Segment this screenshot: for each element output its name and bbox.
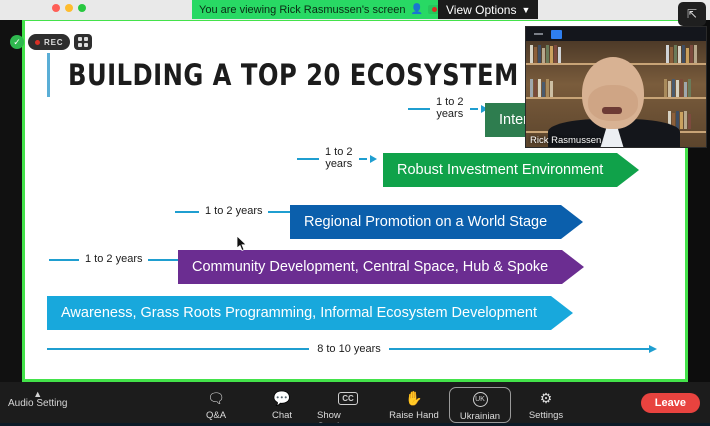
step-bar-arrow-tip: [562, 250, 584, 284]
view-options-label: View Options: [446, 3, 516, 17]
audio-setting-label: Audio Setting: [8, 398, 68, 409]
title-accent-rule: [47, 53, 50, 97]
record-dot-icon: [35, 40, 40, 45]
arrow-right-icon: [649, 345, 657, 353]
connector-label-2: 1 to 2 years: [175, 206, 302, 218]
zoom-meeting-window: You are viewing Rick Rasmussen's screen …: [0, 0, 710, 426]
grid-layout-icon[interactable]: [74, 34, 92, 50]
mouse-cursor-icon: [236, 235, 248, 252]
toolbar-button-ukrainian-label: Ukrainian: [460, 411, 500, 422]
step-bar-4: Robust Investment Environment: [383, 153, 639, 187]
toolbar-button-raise-hand[interactable]: ✋ Raise Hand: [383, 387, 445, 421]
toolbar-button-raise-hand-label: Raise Hand: [389, 410, 439, 421]
person-face-shading: [588, 85, 638, 121]
toolbar-button-qa[interactable]: 🗨 Q&A: [185, 387, 247, 421]
participant-name-label: Rick Rasmussen: [530, 135, 601, 146]
connector-line: [268, 211, 292, 213]
books-row: [530, 79, 553, 97]
screen-share-icon: 👤: [411, 4, 423, 15]
step-bar-3-label: Regional Promotion on a World Stage: [290, 205, 561, 239]
slide-title-group: BUILDING A TOP 20 ECOSYSTEM: [47, 53, 553, 97]
record-dot-icon: [432, 7, 437, 12]
chevron-up-icon: ▲: [8, 390, 68, 398]
connector-text: 1 to 2: [325, 147, 353, 159]
window-traffic-lights[interactable]: [52, 4, 86, 12]
video-feed: Rick Rasmussen: [526, 41, 706, 148]
toolbar-items: 🗨 Q&A 💬 Chat CC Show Captions ✋ Raise Ha…: [185, 387, 577, 426]
connector-text-second: years: [325, 159, 353, 171]
timeline-axis: 8 to 10 years: [47, 343, 657, 355]
raise-hand-icon: ✋: [405, 390, 422, 407]
meeting-toolbar: ▲ Audio Setting 🗨 Q&A 💬 Chat CC Show Cap…: [0, 382, 710, 426]
toolbar-button-chat[interactable]: 💬 Chat: [251, 387, 313, 421]
recording-floating-toolbar[interactable]: ✓ REC: [10, 34, 92, 50]
arrow-right-icon: [370, 155, 377, 163]
connector-text: 1 to 2 years: [85, 254, 142, 266]
close-window-button[interactable]: [52, 4, 60, 12]
screen-share-banner-text: You are viewing Rick Rasmussen's screen: [199, 4, 406, 16]
check-circle-icon: ✓: [10, 35, 24, 49]
maximize-window-button[interactable]: [78, 4, 86, 12]
minimize-window-button[interactable]: [65, 4, 73, 12]
leave-button[interactable]: Leave: [641, 393, 700, 413]
connector-label-3: 1 to 2 years: [297, 147, 377, 170]
interpretation-globe-icon: UK: [473, 391, 488, 408]
connector-label-1: 1 to 2 years: [49, 254, 188, 266]
books-row: [666, 45, 697, 63]
maximize-icon[interactable]: [551, 30, 562, 39]
connector-line: [148, 259, 178, 261]
expand-arrows-icon[interactable]: ⇱: [678, 2, 706, 26]
screen-share-banner: You are viewing Rick Rasmussen's screen …: [192, 0, 468, 19]
view-options-button[interactable]: View Options ▼: [438, 0, 538, 19]
rec-button-label: REC: [44, 38, 63, 47]
step-bar-3: Regional Promotion on a World Stage: [290, 205, 583, 239]
chevron-down-icon: ▼: [521, 5, 530, 15]
timeline-label: 8 to 10 years: [309, 343, 389, 355]
share-frame-left-gutter: [0, 18, 22, 382]
toolbar-button-settings-label: Settings: [529, 410, 563, 421]
qa-bubbles-icon: 🗨: [207, 390, 225, 407]
connector-text-wrap: 1 to 2 years: [436, 97, 464, 120]
closed-captions-icon: CC: [338, 390, 358, 407]
audio-setting-button[interactable]: ▲ Audio Setting: [8, 390, 68, 409]
connector-text-wrap: 1 to 2 years: [325, 147, 353, 170]
connector-line: [49, 259, 79, 261]
toolbar-button-qa-label: Q&A: [206, 410, 226, 421]
step-bar-2: Community Development, Central Space, Hu…: [178, 250, 584, 284]
minimize-icon[interactable]: [534, 33, 543, 35]
step-bar-2-label: Community Development, Central Space, Hu…: [178, 250, 562, 284]
toolbar-button-show-captions[interactable]: CC Show Captions: [317, 387, 379, 426]
toolbar-button-chat-label: Chat: [272, 410, 292, 421]
toolbar-button-settings[interactable]: ⚙ Settings: [515, 387, 577, 421]
participant-video-thumbnail[interactable]: Rick Rasmussen: [525, 26, 707, 148]
step-bar-1-label: Awareness, Grass Roots Programming, Info…: [47, 296, 551, 330]
video-thumbnail-controls[interactable]: [526, 27, 706, 41]
step-bar-1: Awareness, Grass Roots Programming, Info…: [47, 296, 573, 330]
timeline-line-left: [47, 348, 309, 350]
connector-label-4: 1 to 2 years: [408, 97, 488, 120]
person-mouth: [602, 107, 622, 114]
connector-line: [359, 158, 367, 160]
page-title: BUILDING A TOP 20 ECOSYSTEM: [68, 58, 519, 92]
connector-text: 1 to 2: [436, 97, 464, 109]
step-bar-arrow-tip: [617, 153, 639, 187]
books-row: [530, 45, 561, 63]
books-row: [664, 79, 691, 97]
window-title-bar: You are viewing Rick Rasmussen's screen …: [0, 0, 710, 20]
toolbar-button-ukrainian[interactable]: UK Ukrainian: [449, 387, 511, 423]
connector-line: [470, 108, 478, 110]
step-bar-4-label: Robust Investment Environment: [383, 153, 617, 187]
uk-glyph: UK: [473, 392, 488, 407]
connector-text-second: years: [436, 109, 464, 121]
connector-line: [297, 158, 319, 160]
chat-bubble-icon: 💬: [273, 390, 290, 407]
step-bar-arrow-tip: [551, 296, 573, 330]
connector-line: [175, 211, 199, 213]
connector-line: [408, 108, 430, 110]
connector-text: 1 to 2 years: [205, 206, 262, 218]
step-bar-arrow-tip: [561, 205, 583, 239]
timeline-line-right: [389, 348, 651, 350]
rec-button[interactable]: REC: [28, 34, 70, 50]
gear-icon: ⚙: [540, 390, 553, 407]
cc-glyph: CC: [338, 392, 358, 405]
